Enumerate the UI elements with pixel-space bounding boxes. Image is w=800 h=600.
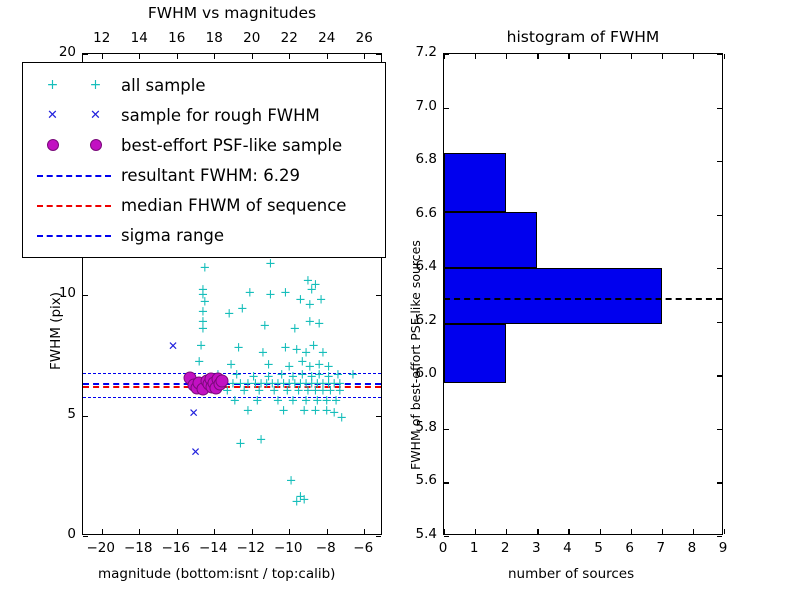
scatter-point-rough-sample: ✕ — [189, 407, 199, 419]
scatter-point-all-sample: + — [199, 262, 210, 275]
legend-item[interactable]: resultant FWHM: 6.29 — [31, 160, 375, 190]
tick-mark — [568, 529, 569, 534]
x-tick-label: 2 — [495, 540, 515, 556]
tick-mark — [444, 529, 445, 534]
tick-mark — [600, 529, 601, 534]
legend-marker-plus-marker: ++ — [31, 75, 117, 95]
bottom-tick-label: −20 — [86, 540, 116, 556]
tick-mark — [717, 161, 722, 162]
x-tick-label: 3 — [526, 540, 546, 556]
tick-mark — [376, 54, 381, 55]
bottom-tick-label: −14 — [198, 540, 228, 556]
tick-mark — [475, 54, 476, 59]
scatter-point-all-sample: + — [291, 344, 302, 357]
tick-mark — [83, 54, 88, 55]
legend-item-label: best-effort PSF-like sample — [117, 136, 342, 155]
resultant-fwhm-dashed-line — [444, 298, 722, 300]
scatter-point-all-sample: + — [306, 284, 317, 297]
top-tick-label: 18 — [202, 30, 226, 46]
left-y-axis-label: FWHM (pix) — [48, 292, 64, 370]
top-tick-label: 14 — [127, 30, 151, 46]
tick-mark — [289, 529, 290, 534]
scatter-point-all-sample: + — [323, 361, 334, 374]
legend-item[interactable]: median FHWM of sequence — [31, 190, 375, 220]
tick-mark — [327, 54, 328, 59]
tick-mark — [139, 529, 140, 534]
top-tick-label: 24 — [315, 30, 339, 46]
tick-mark — [252, 54, 253, 59]
tick-mark — [662, 529, 663, 534]
top-tick-label: 26 — [352, 30, 376, 46]
legend-marker-x-marker: ✕✕ — [31, 105, 117, 125]
plus-icon: + — [90, 77, 102, 93]
tick-mark — [537, 54, 538, 59]
scatter-point-all-sample: + — [303, 274, 314, 287]
tick-mark — [83, 536, 88, 537]
scatter-point-all-sample: + — [276, 368, 287, 381]
bottom-tick-label: −6 — [348, 540, 378, 556]
circle-icon — [90, 139, 102, 151]
scatter-point-all-sample: + — [295, 491, 306, 504]
scatter-point-rough-sample: ✕ — [168, 340, 178, 352]
top-tick-label: 20 — [240, 30, 264, 46]
tick-mark — [724, 54, 725, 59]
scatter-point-all-sample: + — [304, 361, 315, 374]
x-tick-label: 4 — [557, 540, 577, 556]
scatter-point-all-sample: + — [333, 368, 344, 381]
tick-mark — [717, 54, 722, 55]
bottom-tick-label: −8 — [311, 540, 341, 556]
scatter-point-all-sample: + — [224, 308, 235, 321]
sigma-lower-line — [83, 397, 381, 398]
scatter-point-all-sample: + — [304, 298, 315, 311]
scatter-point-all-sample: + — [329, 407, 340, 420]
legend-marker-filled-circle-marker — [31, 135, 117, 155]
scatter-point-all-sample: + — [310, 279, 321, 292]
legend-item-label: sample for rough FWHM — [117, 106, 320, 125]
scatter-point-all-sample: + — [244, 286, 255, 299]
tick-mark — [693, 54, 694, 59]
x-tick-label: 1 — [464, 540, 484, 556]
scatter-point-all-sample: + — [198, 284, 209, 297]
legend-item[interactable]: sigma range — [31, 220, 375, 250]
scatter-point-all-sample: + — [235, 438, 246, 451]
legend-item-label: sigma range — [117, 226, 224, 245]
histogram-axes[interactable] — [443, 53, 723, 535]
scatter-point-all-sample: + — [231, 368, 242, 381]
scatter-point-all-sample: + — [256, 433, 267, 446]
tick-mark — [444, 482, 449, 483]
tick-mark — [214, 54, 215, 59]
scatter-point-all-sample: + — [280, 286, 291, 299]
tick-mark — [252, 529, 253, 534]
scatter-point-all-sample: + — [297, 368, 308, 381]
dashed-line-icon — [37, 175, 111, 177]
circle-icon — [47, 139, 59, 151]
median-fwhm-line — [83, 386, 381, 388]
tick-mark — [717, 375, 722, 376]
scatter-point-all-sample: + — [301, 346, 312, 359]
scatter-point-all-sample: + — [237, 303, 248, 316]
y-tick-label: 0 — [48, 526, 76, 542]
scatter-point-all-sample: + — [198, 315, 209, 328]
scatter-point-all-sample: + — [265, 289, 276, 302]
top-tick-label: 12 — [90, 30, 114, 46]
tick-mark — [717, 482, 722, 483]
right-panel-title: histogram of FWHM — [443, 28, 723, 46]
scatter-point-all-sample: + — [336, 411, 347, 424]
x-tick-label: 8 — [682, 540, 702, 556]
tick-mark — [177, 529, 178, 534]
scatter-point-all-sample: + — [299, 493, 310, 506]
legend-item[interactable]: best-effort PSF-like sample — [31, 130, 375, 160]
y-tick-label: 7.2 — [399, 44, 437, 60]
x-tick-label: 7 — [651, 540, 671, 556]
legend-box[interactable]: ++all sample✕✕sample for rough FWHMbest-… — [22, 62, 386, 258]
tick-mark — [444, 536, 449, 537]
top-tick-label: 16 — [165, 30, 189, 46]
scatter-point-all-sample: + — [314, 358, 325, 371]
x-tick-label: 9 — [713, 540, 733, 556]
resultant-fwhm-line — [83, 383, 381, 385]
tick-mark — [214, 529, 215, 534]
histogram-bar[interactable] — [444, 268, 662, 324]
scatter-point-all-sample: + — [233, 342, 244, 355]
left-x-axis-label: magnitude (bottom:isnt / top:calib) — [98, 566, 335, 582]
bottom-tick-label: −18 — [123, 540, 153, 556]
scatter-point-rough-sample: ✕ — [190, 446, 200, 458]
scatter-point-all-sample: + — [289, 322, 300, 335]
tick-mark — [717, 215, 722, 216]
y-tick-label: 5 — [48, 406, 76, 422]
legend-item[interactable]: ++all sample — [31, 70, 375, 100]
y-tick-label: 6.8 — [399, 151, 437, 167]
tick-mark — [83, 416, 88, 417]
bottom-tick-label: −10 — [273, 540, 303, 556]
tick-mark — [600, 54, 601, 59]
scatter-point-all-sample: + — [280, 342, 291, 355]
scatter-point-all-sample: + — [213, 368, 224, 381]
tick-mark — [475, 529, 476, 534]
tick-mark — [139, 54, 140, 59]
tick-mark — [102, 529, 103, 534]
y-tick-label: 6.6 — [399, 205, 437, 221]
scatter-point-all-sample: + — [299, 404, 310, 417]
tick-mark — [83, 295, 88, 296]
tick-mark — [376, 536, 381, 537]
tick-mark — [376, 295, 381, 296]
tick-mark — [289, 54, 290, 59]
x-tick-label: 6 — [620, 540, 640, 556]
scatter-point-all-sample: + — [243, 404, 254, 417]
scatter-point-all-sample: + — [258, 346, 269, 359]
figure-canvas: FWHM vs magnitudes 1214161820222426 −20−… — [0, 0, 800, 600]
scatter-point-all-sample: + — [316, 293, 327, 306]
scatter-point-all-sample: + — [263, 358, 274, 371]
left-panel-title: FWHM vs magnitudes — [82, 4, 382, 22]
scatter-point-all-sample: + — [286, 474, 297, 487]
x-icon: ✕ — [90, 108, 101, 123]
scatter-point-all-sample: + — [278, 404, 289, 417]
scatter-point-all-sample: + — [295, 293, 306, 306]
tick-mark — [177, 54, 178, 59]
tick-mark — [506, 529, 507, 534]
dashed-line-icon — [37, 205, 111, 207]
tick-mark — [631, 54, 632, 59]
scatter-point-all-sample: + — [321, 404, 332, 417]
tick-mark — [506, 54, 507, 59]
tick-mark — [717, 536, 722, 537]
right-x-axis-label: number of sources — [508, 566, 634, 582]
scatter-point-all-sample: + — [194, 356, 205, 369]
scatter-point-all-sample: + — [297, 356, 308, 369]
x-tick-label: 0 — [433, 540, 453, 556]
histogram-bar[interactable] — [444, 153, 506, 212]
scatter-point-all-sample: + — [226, 358, 237, 371]
tick-mark — [631, 529, 632, 534]
scatter-point-all-sample: + — [259, 320, 270, 333]
legend-item-label: median FHWM of sequence — [117, 196, 346, 215]
x-tick-label: 5 — [589, 540, 609, 556]
scatter-point-all-sample: + — [310, 404, 321, 417]
tick-mark — [102, 54, 103, 59]
histogram-bar[interactable] — [444, 212, 537, 268]
tick-mark — [327, 529, 328, 534]
scatter-point-all-sample: + — [265, 257, 276, 270]
scatter-point-all-sample: + — [284, 361, 295, 374]
legend-item-label: resultant FWHM: 6.29 — [117, 166, 300, 185]
y-tick-label: 5.6 — [399, 472, 437, 488]
y-tick-label: 20 — [48, 44, 76, 60]
y-tick-label: 5.4 — [399, 526, 437, 542]
scatter-point-all-sample: + — [198, 289, 209, 302]
legend-marker-dash-dot-line — [31, 225, 117, 245]
tick-mark — [376, 416, 381, 417]
scatter-point-all-sample: + — [198, 322, 209, 335]
scatter-point-all-sample: + — [304, 315, 315, 328]
tick-mark — [717, 322, 722, 323]
right-y-axis-label: FWHM of best-effort PSF-like sources — [408, 240, 423, 470]
legend-marker-dashed-line — [31, 195, 117, 215]
legend-item-label: all sample — [117, 76, 206, 95]
scatter-point-all-sample: + — [308, 339, 319, 352]
histogram-bar[interactable] — [444, 324, 506, 383]
bottom-tick-label: −12 — [236, 540, 266, 556]
x-icon: ✕ — [47, 108, 58, 123]
scatter-point-all-sample: + — [318, 346, 329, 359]
tick-mark — [568, 54, 569, 59]
tick-mark — [717, 108, 722, 109]
scatter-point-all-sample: + — [198, 305, 209, 318]
dash-dot-line-icon — [37, 235, 111, 237]
tick-mark — [364, 529, 365, 534]
scatter-point-all-sample: + — [196, 339, 207, 352]
bottom-tick-label: −16 — [161, 540, 191, 556]
scatter-point-all-sample: + — [314, 368, 325, 381]
scatter-point-all-sample: + — [291, 496, 302, 509]
plus-icon: + — [47, 77, 59, 93]
tick-mark — [717, 268, 722, 269]
tick-mark — [717, 429, 722, 430]
y-tick-label: 7.0 — [399, 98, 437, 114]
tick-mark — [444, 429, 449, 430]
top-tick-label: 22 — [277, 30, 301, 46]
legend-item[interactable]: ✕✕sample for rough FWHM — [31, 100, 375, 130]
tick-mark — [662, 54, 663, 59]
tick-mark — [693, 529, 694, 534]
legend-marker-dashed-line — [31, 165, 117, 185]
scatter-point-all-sample: + — [348, 368, 359, 381]
tick-mark — [537, 529, 538, 534]
tick-mark — [724, 529, 725, 534]
tick-mark — [444, 108, 449, 109]
sigma-upper-line — [83, 373, 381, 374]
tick-mark — [364, 54, 365, 59]
scatter-point-all-sample: + — [199, 296, 210, 309]
tick-mark — [444, 54, 449, 55]
scatter-point-all-sample: + — [314, 317, 325, 330]
